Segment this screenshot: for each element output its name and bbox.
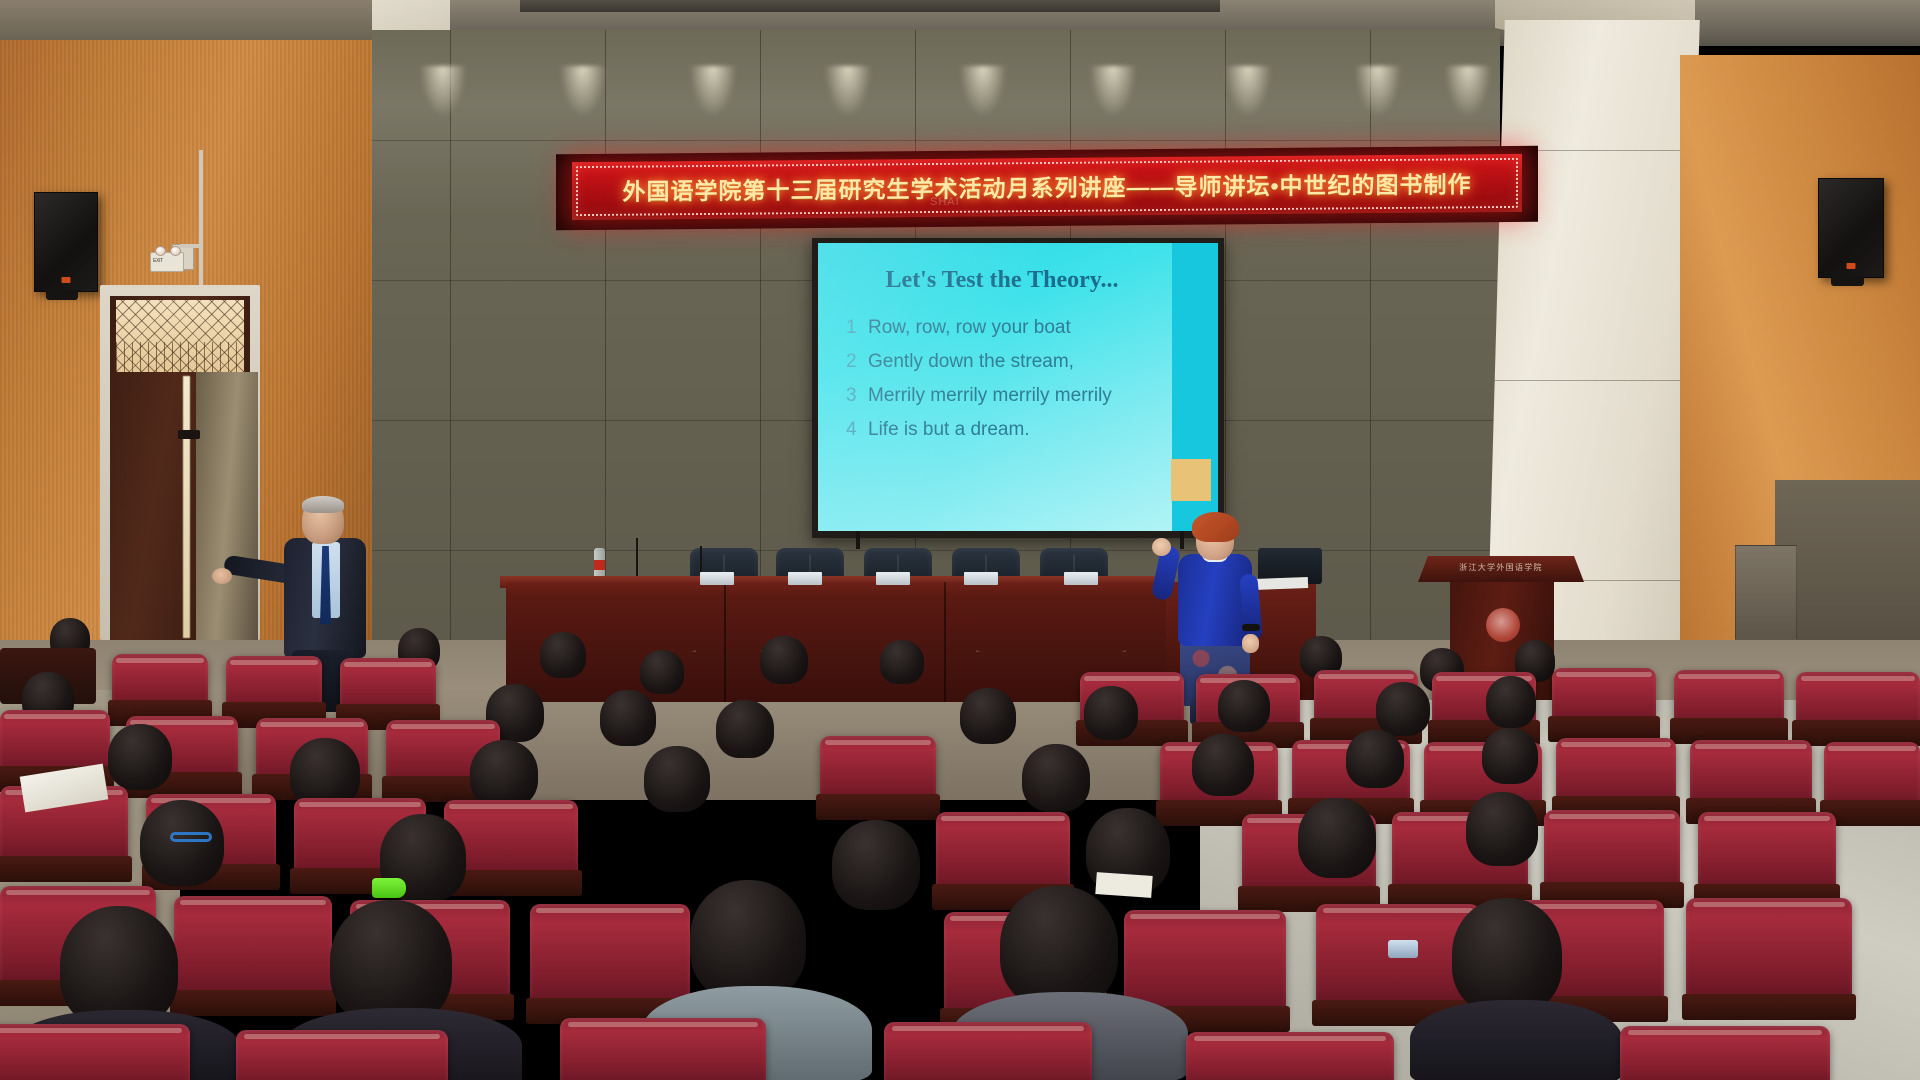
list-item-text: Merrily merrily merrily merrily bbox=[868, 385, 1112, 407]
list-item-text: Row, row, row your boat bbox=[868, 317, 1071, 339]
electrical-conduit-left bbox=[199, 150, 203, 300]
nameplate bbox=[876, 572, 910, 585]
door-opening bbox=[196, 372, 258, 640]
phone-on-seat bbox=[1388, 940, 1418, 958]
list-item-text: Gently down the stream, bbox=[868, 351, 1074, 373]
green-highlighter bbox=[372, 878, 406, 898]
emergency-light-label: EXIT bbox=[153, 258, 163, 264]
screen-support-left bbox=[856, 531, 860, 549]
female-speaker-raised-hand bbox=[1152, 538, 1171, 556]
list-item: 3 Merrily merrily merrily merrily bbox=[846, 385, 1176, 407]
ceiling-beam bbox=[520, 0, 1220, 12]
female-speaker-watch bbox=[1242, 624, 1260, 631]
list-item-number: 3 bbox=[846, 385, 868, 407]
list-item: 4 Life is but a dream. bbox=[846, 419, 1176, 441]
eyeglasses bbox=[170, 832, 212, 842]
nameplate bbox=[964, 572, 998, 585]
male-speaker-hand bbox=[212, 568, 232, 584]
list-item-number: 4 bbox=[846, 419, 868, 441]
nameplate bbox=[788, 572, 822, 585]
list-item: 1 Row, row, row your boat bbox=[846, 317, 1176, 339]
university-emblem bbox=[1486, 608, 1520, 642]
slide-accent-square bbox=[1171, 459, 1211, 501]
list-item-text: Life is but a dream. bbox=[868, 419, 1030, 441]
photo-watermark: SHAI bbox=[930, 196, 960, 208]
door-handle[interactable] bbox=[178, 430, 200, 439]
door-light-strip bbox=[183, 376, 190, 638]
female-speaker-hand bbox=[1242, 634, 1259, 653]
nameplate bbox=[700, 572, 734, 585]
led-scrolling-banner: 外国语学院第十三届研究生学术活动月系列讲座——导师讲坛•中世纪的图书制作 bbox=[572, 154, 1522, 220]
wall-speaker-left bbox=[34, 192, 98, 292]
lecture-hall-photo: EXIT 外国语学院第十三届研究生学术活动月系列讲座——导师讲坛•中世纪的图书制… bbox=[0, 0, 1920, 1080]
slide-title: Let's Test the Theory... bbox=[818, 267, 1186, 294]
slide-bullet-list: 1 Row, row, row your boat 2 Gently down … bbox=[846, 317, 1176, 453]
list-item-number: 1 bbox=[846, 317, 868, 339]
lectern-sign-text: 浙江大学外国语学院 bbox=[1418, 562, 1584, 573]
papers-on-seat-right bbox=[1095, 872, 1152, 898]
left-wall-header bbox=[0, 0, 372, 40]
list-item: 2 Gently down the stream, bbox=[846, 351, 1176, 373]
stage-table bbox=[506, 582, 1166, 702]
wall-speaker-right bbox=[1818, 178, 1884, 278]
emergency-exit-light: EXIT bbox=[150, 252, 184, 272]
list-item-number: 2 bbox=[846, 351, 868, 373]
conduit-branch-left bbox=[180, 244, 202, 248]
wall-panel-right bbox=[1735, 545, 1797, 640]
nameplate bbox=[1064, 572, 1098, 585]
banner-text: 外国语学院第十三届研究生学术活动月系列讲座——导师讲坛•中世纪的图书制作 bbox=[572, 154, 1522, 220]
projection-screen: Let's Test the Theory... 1 Row, row, row… bbox=[818, 243, 1218, 531]
door-lattice-window bbox=[116, 300, 244, 372]
male-speaker-hair bbox=[302, 496, 344, 513]
female-speaker-hair bbox=[1192, 512, 1239, 542]
